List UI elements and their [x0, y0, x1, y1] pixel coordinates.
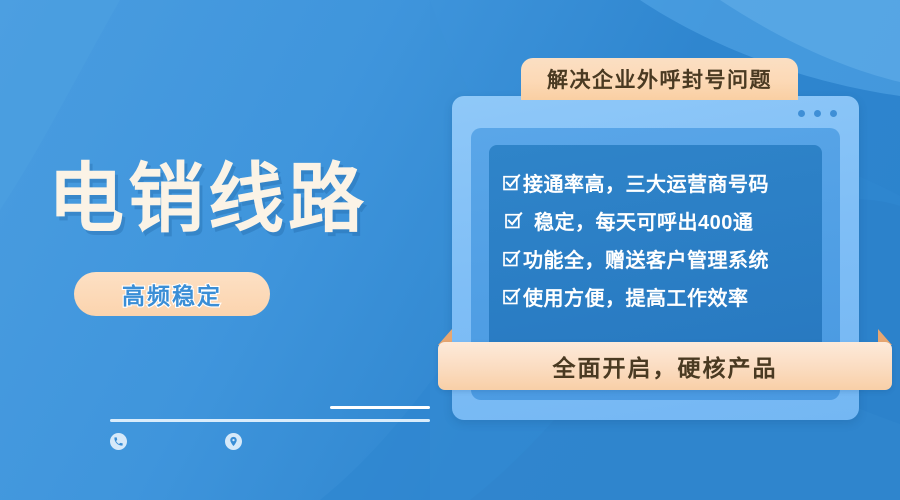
list-item: 功能全，赠送客户管理系统: [489, 239, 822, 277]
window-dot-1[interactable]: [798, 110, 805, 117]
decorative-rule-long: [110, 419, 430, 422]
checkbox-checked-icon: [503, 174, 520, 191]
list-item: 接通率高，三大运营商号码: [489, 163, 822, 201]
checkbox-checked-icon: [503, 250, 520, 267]
window-control-dots: [798, 110, 837, 117]
promo-banner: 电销线路 高频稳定 解决企业外呼封号问题: [0, 0, 900, 500]
feature-list: 接通率高，三大运营商号码 稳定，每天可呼出400通: [489, 163, 822, 315]
cta-ribbon[interactable]: 全面开启，硬核产品: [430, 329, 900, 389]
list-item: 使用方便，提高工作效率: [489, 277, 822, 315]
list-item-label: 功能全，赠送客户管理系统: [523, 244, 769, 273]
subtitle-pill: 高频稳定: [74, 272, 270, 316]
checkbox-checked-icon: [505, 212, 522, 229]
window-dot-3[interactable]: [830, 110, 837, 117]
right-column: 解决企业外呼封号问题: [430, 0, 900, 500]
phone-icon[interactable]: [110, 433, 127, 450]
checkbox-checked-icon: [503, 288, 520, 305]
left-column: 电销线路 高频稳定: [0, 0, 450, 500]
subtitle-pill-label: 高频稳定: [122, 277, 222, 311]
ribbon-body[interactable]: 全面开启，硬核产品: [438, 342, 892, 390]
headline-badge-label: 解决企业外呼封号问题: [547, 64, 772, 94]
ribbon-label: 全面开启，硬核产品: [553, 349, 778, 383]
decorative-rule-short: [330, 406, 430, 409]
window-dot-2[interactable]: [814, 110, 821, 117]
headline-badge: 解决企业外呼封号问题: [521, 58, 798, 100]
list-item-label: 稳定，每天可呼出400通: [525, 206, 753, 235]
list-item-label: 使用方便，提高工作效率: [523, 282, 749, 311]
list-item-label: 接通率高，三大运营商号码: [523, 168, 769, 197]
location-pin-icon[interactable]: [225, 433, 242, 450]
page-title: 电销线路: [48, 162, 368, 238]
list-item: 稳定，每天可呼出400通: [489, 201, 822, 239]
